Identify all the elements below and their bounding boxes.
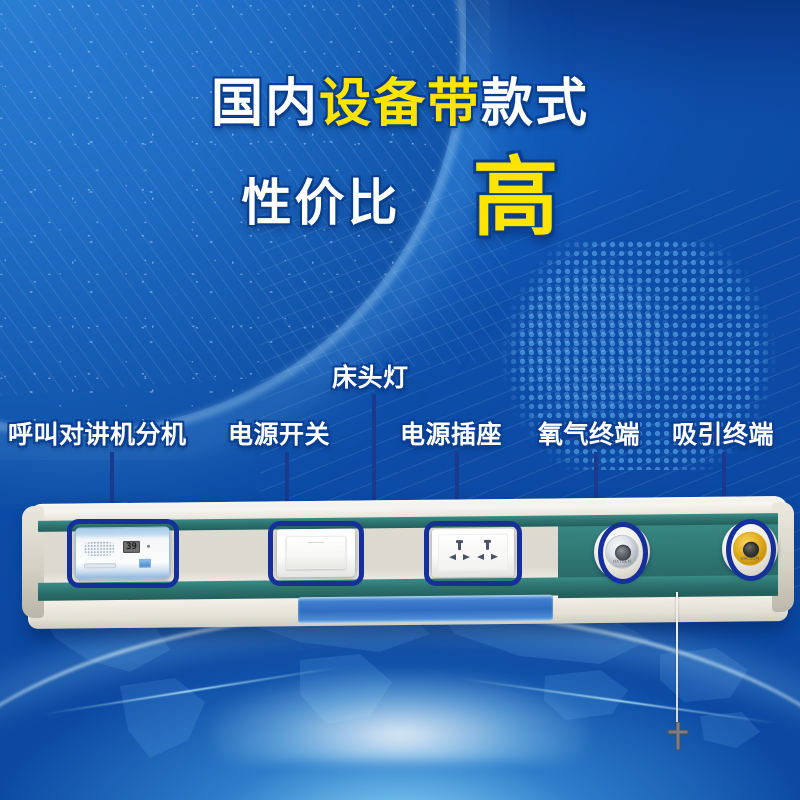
nurse-call-intercom-device[interactable]: 39 bbox=[75, 527, 170, 580]
socket-faceplate bbox=[438, 534, 508, 572]
headline-part-3: 款式 bbox=[481, 78, 589, 130]
oxygen-terminal-marking: OXYGEN bbox=[606, 559, 638, 564]
promo-image: 国内设备带款式 性价比 高 呼叫对讲机分机 电源开关 床头灯 电源插座 氧气终端… bbox=[0, 0, 800, 800]
headline-block: 国内设备带款式 bbox=[0, 78, 800, 130]
headline-part-1: 国内 bbox=[211, 78, 319, 130]
speaker-grille-icon bbox=[84, 541, 114, 556]
power-switch-device[interactable] bbox=[277, 529, 355, 578]
callout-label-bed-lamp: 床头灯 bbox=[332, 358, 409, 394]
switch-rocker[interactable] bbox=[286, 536, 346, 570]
oxygen-terminal-ring: OXYGEN bbox=[605, 535, 639, 569]
intercom-indicator-led bbox=[147, 545, 150, 548]
headline-part-2: 设备带 bbox=[319, 78, 481, 130]
subheadline-emphasis: 高 bbox=[473, 160, 559, 237]
socket-pin-vertical bbox=[458, 541, 461, 550]
oxygen-terminal-bezel: OXYGEN bbox=[594, 523, 650, 580]
callout-label-intercom: 呼叫对讲机分机 bbox=[8, 415, 187, 451]
socket-pin-vertical bbox=[486, 541, 489, 550]
bed-lamp-light-strip[interactable] bbox=[298, 595, 553, 624]
switch-indent-line bbox=[308, 542, 324, 543]
socket-outlet-left[interactable] bbox=[449, 541, 471, 565]
callout-label-power-socket: 电源插座 bbox=[400, 415, 502, 451]
intercom-display: 39 bbox=[123, 541, 140, 553]
bed-head-unit-panel: 39 bbox=[28, 500, 788, 625]
socket-pin-left bbox=[477, 554, 484, 560]
suction-terminal-bezel: VACUUM bbox=[722, 520, 778, 577]
bottom-arc-core-glow bbox=[210, 672, 590, 762]
subheadline-block: 性价比 高 bbox=[0, 160, 800, 237]
intercom-call-button[interactable] bbox=[139, 559, 151, 568]
callout-label-power-switch: 电源开关 bbox=[228, 415, 330, 451]
subheadline-text: 性价比 bbox=[242, 163, 401, 235]
pull-cord-weight[interactable] bbox=[666, 722, 690, 750]
pull-cord-string[interactable] bbox=[676, 592, 678, 727]
suction-terminal-ring: VACUUM bbox=[733, 532, 767, 566]
socket-outlet-right[interactable] bbox=[477, 541, 499, 565]
intercom-label-slot bbox=[84, 563, 116, 568]
suction-terminal-marking: VACUUM bbox=[734, 556, 766, 561]
callout-label-suction-terminal: 吸引终端 bbox=[672, 415, 774, 451]
power-socket-device[interactable] bbox=[432, 529, 514, 578]
socket-pin-right bbox=[491, 554, 498, 560]
socket-pin-left bbox=[449, 554, 456, 560]
socket-pin-right bbox=[463, 554, 470, 560]
callout-label-oxygen-terminal: 氧气终端 bbox=[538, 415, 640, 451]
